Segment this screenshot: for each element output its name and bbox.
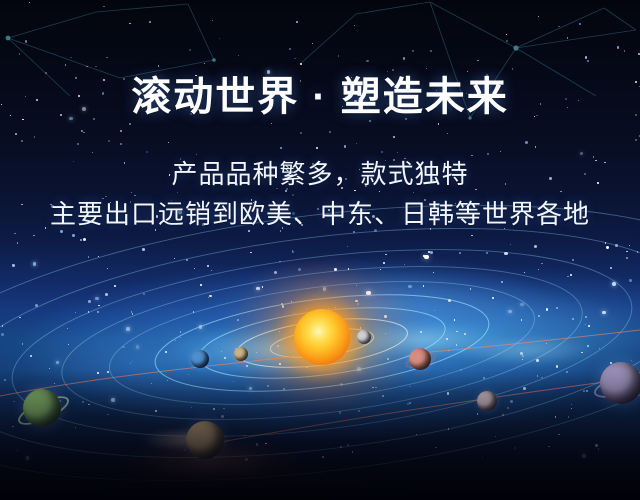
banner-text: 滚动世界 · 塑造未来 产品品种繁多，款式独特 主要出口远销到欧美、中东、日韩等… [0, 74, 640, 233]
space-banner: 滚动世界 · 塑造未来 产品品种繁多，款式独特 主要出口远销到欧美、中东、日韩等… [0, 0, 640, 500]
page-title: 滚动世界 · 塑造未来 [0, 74, 640, 121]
subtitle-line-1: 产品品种繁多，款式独特 [0, 157, 640, 193]
subtitle-line-2: 主要出口远销到欧美、中东、日韩等世界各地 [0, 197, 640, 233]
